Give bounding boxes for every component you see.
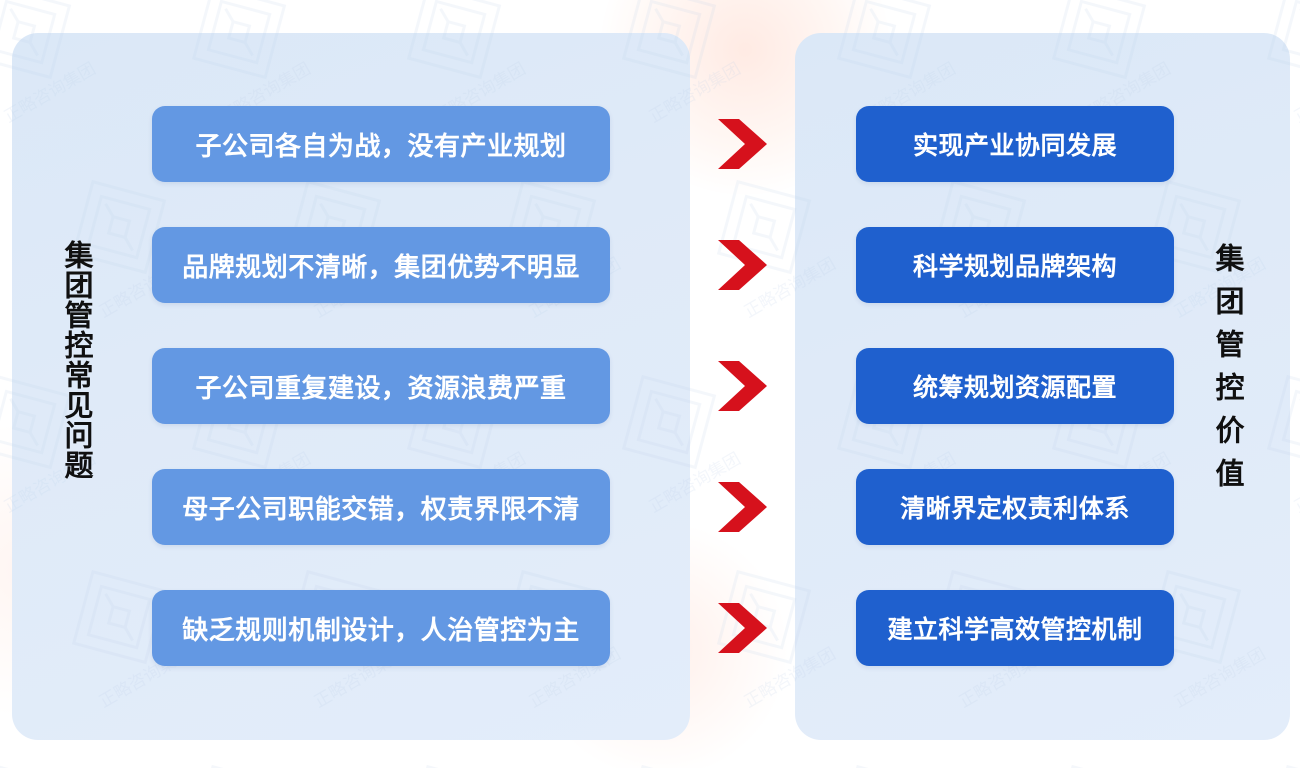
svg-text:正略咨询集团: 正略咨询集团 xyxy=(1291,59,1300,127)
problem-item[interactable]: 子公司重复建设，资源浪费严重 xyxy=(152,348,610,424)
problem-item[interactable]: 品牌规划不清晰，集团优势不明显 xyxy=(152,227,610,303)
problem-item[interactable]: 母子公司职能交错，权责界限不清 xyxy=(152,469,610,545)
value-item[interactable]: 清晰界定权责利体系 xyxy=(856,469,1174,545)
value-item[interactable]: 建立科学高效管控机制 xyxy=(856,590,1174,666)
chevron-right-arrow-icon xyxy=(715,480,771,534)
chevron-right-arrow-icon xyxy=(715,359,771,413)
value-item[interactable]: 统筹规划资源配置 xyxy=(856,348,1174,424)
value-item[interactable]: 科学规划品牌架构 xyxy=(856,227,1174,303)
arrow-cell xyxy=(705,469,780,545)
arrow-cell xyxy=(705,227,780,303)
connector-arrows xyxy=(705,106,780,666)
value-item[interactable]: 实现产业协同发展 xyxy=(856,106,1174,182)
arrow-cell xyxy=(705,590,780,666)
problem-item[interactable]: 缺乏规则机制设计，人治管控为主 xyxy=(152,590,610,666)
arrow-cell xyxy=(705,106,780,182)
problems-panel-caption: 集团管控常见问题 xyxy=(62,240,91,480)
values-panel-caption: 集团管控价值 xyxy=(1213,243,1242,501)
problems-list: 子公司各自为战，没有产业规划 品牌规划不清晰，集团优势不明显 子公司重复建设，资… xyxy=(152,106,610,666)
values-list: 实现产业协同发展 科学规划品牌架构 统筹规划资源配置 清晰界定权责利体系 建立科… xyxy=(856,106,1174,666)
chevron-right-arrow-icon xyxy=(715,601,771,655)
problem-item[interactable]: 子公司各自为战，没有产业规划 xyxy=(152,106,610,182)
arrow-cell xyxy=(705,348,780,424)
svg-text:正略咨询集团: 正略咨询集团 xyxy=(1291,449,1300,517)
chevron-right-arrow-icon xyxy=(715,117,771,171)
infographic-canvas: 正略咨询集团 正略咨询集团 正略咨询集团 xyxy=(0,0,1300,768)
chevron-right-arrow-icon xyxy=(715,238,771,292)
